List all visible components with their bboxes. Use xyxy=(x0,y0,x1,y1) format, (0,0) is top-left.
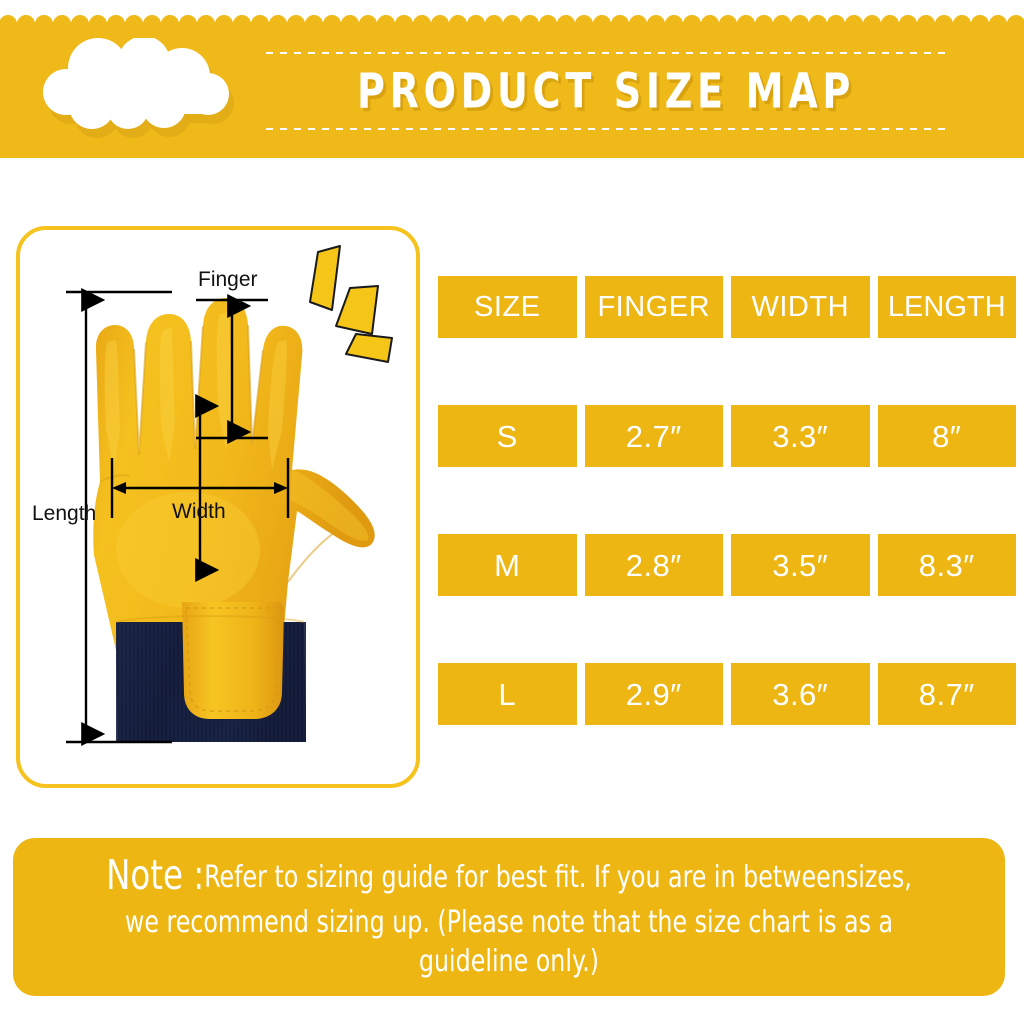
cell-size-l: L xyxy=(438,663,577,725)
cell-width-m: 3.5″ xyxy=(731,534,870,596)
table-header-finger: FINGER xyxy=(585,276,724,338)
cell-size-s: S xyxy=(438,405,577,467)
cell-size-m: M xyxy=(438,534,577,596)
cell-finger-m: 2.8″ xyxy=(585,534,724,596)
cloud-icon xyxy=(36,38,246,143)
glove-graphic xyxy=(93,298,374,742)
finger-label: Finger xyxy=(198,268,258,291)
cell-length-s: 8″ xyxy=(878,405,1017,467)
cloud-shape xyxy=(36,38,236,133)
note-text: Refer to sizing guide for best fit. If y… xyxy=(125,860,912,978)
cell-width-l: 3.6″ xyxy=(731,663,870,725)
table-row: M 2.8″ 3.5″ 8.3″ xyxy=(438,534,1016,596)
cell-finger-s: 2.7″ xyxy=(585,405,724,467)
page-title: PRODUCT SIZE MAP xyxy=(290,47,922,134)
table-header-width: WIDTH xyxy=(731,276,870,338)
table-header-size: SIZE xyxy=(438,276,577,338)
product-size-map-page: PRODUCT SIZE MAP xyxy=(0,0,1024,1024)
size-table: SIZE FINGER WIDTH LENGTH S 2.7″ 3.3″ 8″ … xyxy=(438,276,1016,716)
length-label: Length xyxy=(32,502,96,525)
cell-width-s: 3.3″ xyxy=(731,405,870,467)
note-box: Note :Refer to sizing guide for best fit… xyxy=(13,838,1005,996)
table-header-row: SIZE FINGER WIDTH LENGTH xyxy=(438,276,1016,338)
scalloped-edge xyxy=(0,12,1024,34)
sparkle-wedges xyxy=(310,246,392,362)
cell-finger-l: 2.9″ xyxy=(585,663,724,725)
table-row: S 2.7″ 3.3″ 8″ xyxy=(438,405,1016,467)
note-label: Note : xyxy=(106,851,204,899)
table-row: L 2.9″ 3.6″ 8.7″ xyxy=(438,663,1016,725)
glove-diagram: Length Finger Width xyxy=(20,230,416,784)
header-banner: PRODUCT SIZE MAP xyxy=(0,22,1024,158)
note-content: Note :Refer to sizing guide for best fit… xyxy=(94,849,925,980)
glove-illustration-card: Length Finger Width xyxy=(16,226,420,788)
width-label: Width xyxy=(172,500,226,523)
cell-length-l: 8.7″ xyxy=(878,663,1017,725)
table-header-length: LENGTH xyxy=(878,276,1017,338)
cell-length-m: 8.3″ xyxy=(878,534,1017,596)
title-block: PRODUCT SIZE MAP xyxy=(266,42,946,140)
